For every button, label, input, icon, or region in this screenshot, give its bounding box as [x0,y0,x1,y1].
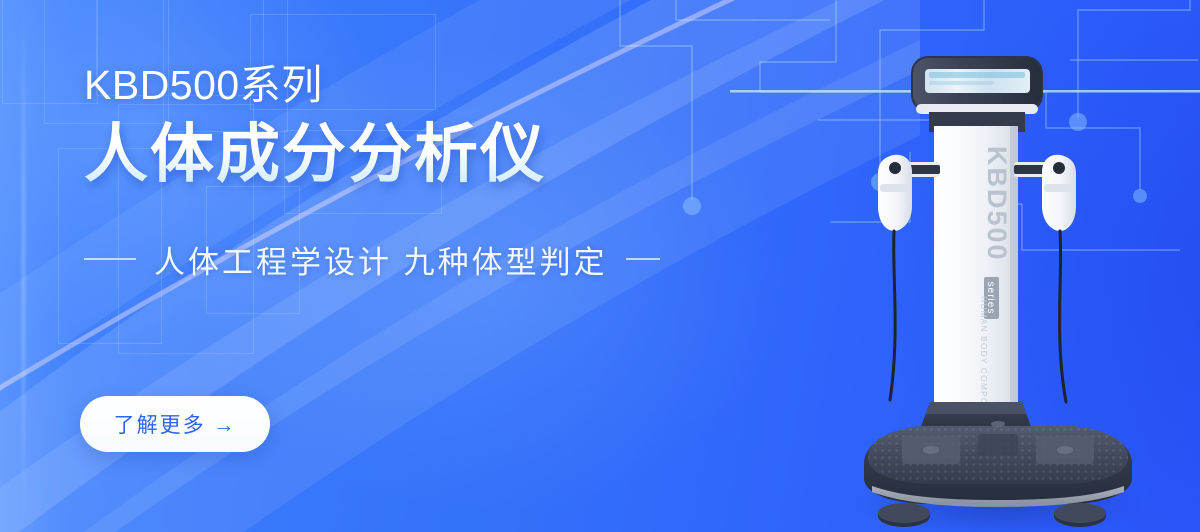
device-base-platform [864,421,1132,507]
device-brand-text: KBD500 [982,146,1012,262]
learn-more-button[interactable]: 了解更多 → [80,396,270,452]
subline-dash-left [84,258,136,260]
subline-dash-right [626,258,660,260]
device-display-head [911,56,1043,132]
hero-kicker: KBD500系列 [84,62,704,109]
hero-banner: KBD500 series HUMAN BODY COMPOSITION ANA… [0,0,1200,532]
body-composition-analyzer-image: KBD500 series HUMAN BODY COMPOSITION ANA… [830,34,1140,532]
hero-headline: 人体成分分析仪 [84,119,704,191]
hero-subtitle: 人体工程学设计 九种体型判定 [154,237,608,282]
right-hand-electrode [1042,155,1076,402]
hero-text-block: KBD500系列 人体成分分析仪 人体工程学设计 九种体型判定 [84,62,704,282]
learn-more-label: 了解更多 → [114,409,237,439]
left-hand-electrode [878,155,912,400]
hero-subline: 人体工程学设计 九种体型判定 [84,237,704,282]
